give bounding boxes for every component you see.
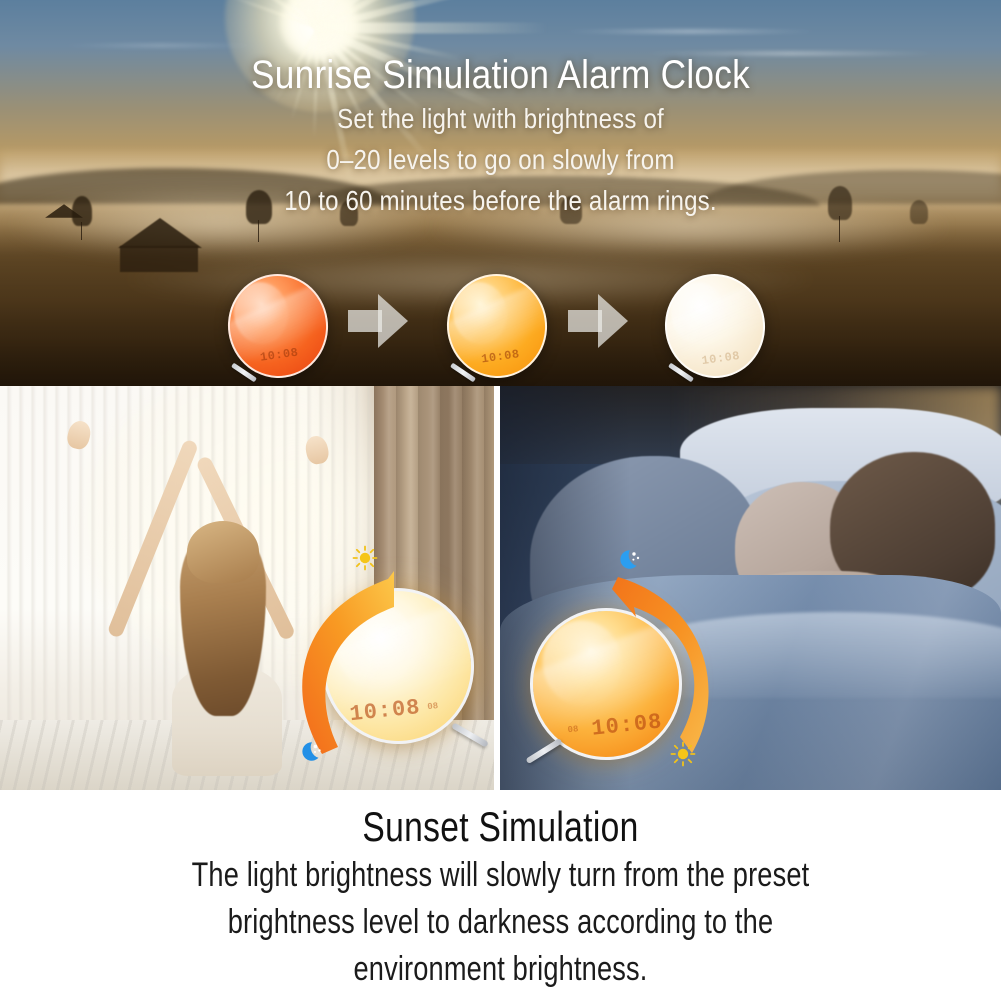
cloud-streak bbox=[60, 44, 260, 47]
moon-icon bbox=[298, 739, 326, 770]
sunset-line-3: environment brightness. bbox=[100, 946, 901, 993]
sunset-title: Sunset Simulation bbox=[100, 790, 901, 852]
sunset-line-2: brightness level to darkness according t… bbox=[100, 899, 901, 946]
panel-sunrise-waking: 10:08 08 bbox=[0, 386, 494, 790]
hero-text-block: Sunrise Simulation Alarm Clock Set the l… bbox=[0, 52, 1001, 221]
left-hand bbox=[65, 419, 93, 451]
head bbox=[187, 521, 259, 583]
product-marketing-image: Sunrise Simulation Alarm Clock Set the l… bbox=[0, 0, 1001, 1001]
cloud-streak bbox=[560, 30, 820, 33]
sunset-line-1: The light brightness will slowly turn fr… bbox=[100, 852, 901, 899]
barn-roof bbox=[118, 218, 202, 248]
sunset-copy-block: Sunset Simulation The light brightness w… bbox=[0, 790, 1001, 1001]
hero-title: Sunrise Simulation Alarm Clock bbox=[60, 52, 941, 98]
sun-icon bbox=[352, 545, 378, 576]
sunrise-cycle-graphic bbox=[290, 541, 494, 781]
hero-sunrise-landscape: Sunrise Simulation Alarm Clock Set the l… bbox=[0, 0, 1001, 386]
panel-sunset-sleeping: 10:08 08 bbox=[500, 386, 1001, 790]
sun-icon bbox=[670, 741, 696, 772]
hero-subtitle-line-1: Set the light with brightness of bbox=[70, 98, 931, 139]
tree-trunk bbox=[258, 220, 259, 242]
sunset-cycle-graphic bbox=[520, 541, 750, 781]
moon-icon bbox=[616, 547, 644, 578]
brightness-stage-row: 10:08 10:08 bbox=[0, 266, 1001, 386]
lifestyle-photo-row: 10:08 08 bbox=[0, 386, 1001, 790]
hero-subtitle-line-3: 10 to 60 minutes before the alarm rings. bbox=[70, 180, 931, 221]
right-hand bbox=[303, 434, 330, 466]
panel-divider bbox=[494, 386, 500, 790]
hero-subtitle-line-2: 0–20 levels to go on slowly from bbox=[70, 139, 931, 180]
tree-trunk bbox=[81, 222, 82, 240]
